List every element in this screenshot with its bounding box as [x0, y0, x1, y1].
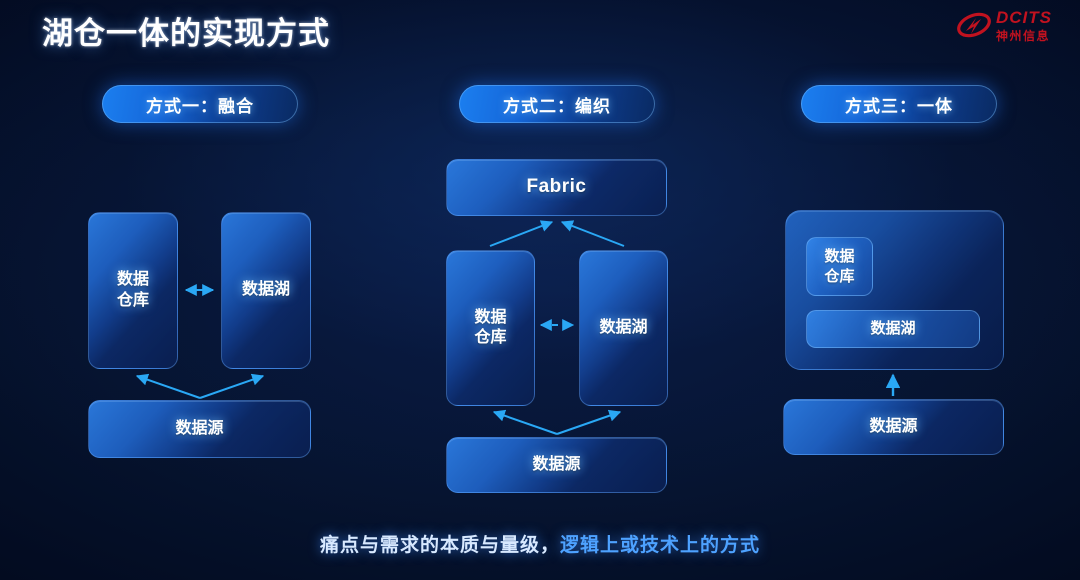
method1-warehouse-node[interactable]: 数据 仓库	[88, 212, 178, 369]
method1-lake-node[interactable]: 数据湖	[221, 212, 311, 369]
page-title: 湖仓一体的实现方式	[42, 8, 330, 53]
dcits-swirl-icon	[956, 9, 992, 43]
footer-caption-part2: 逻辑上或技术上的方式	[560, 535, 760, 556]
method1-lake-label: 数据湖	[242, 280, 290, 300]
c1-source-to-lake-arrow	[200, 376, 263, 398]
method2-source-label: 数据源	[532, 455, 580, 475]
logo-chinese-name: 神州信息	[996, 27, 1050, 44]
method3-warehouse-node[interactable]: 数据 仓库	[806, 237, 873, 296]
method2-warehouse-node[interactable]: 数据 仓库	[446, 250, 535, 406]
method2-source-node[interactable]: 数据源	[446, 437, 667, 493]
method1-warehouse-label: 数据 仓库	[117, 270, 149, 311]
c2-warehouse-to-fabric-arrow	[490, 222, 552, 246]
slide-canvas: 湖仓一体的实现方式 DCITS 神州信息 方式一：融合 方式二：编织 方式三：一…	[0, 0, 1080, 580]
method2-fabric-label: Fabric	[526, 175, 586, 199]
method1-source-label: 数据源	[175, 419, 223, 439]
method2-lake-node[interactable]: 数据湖	[579, 250, 668, 406]
method-pill-2[interactable]: 方式二：编织	[459, 85, 655, 123]
method3-warehouse-label: 数据 仓库	[824, 247, 854, 285]
method3-source-label: 数据源	[869, 417, 917, 437]
footer-caption: 痛点与需求的本质与量级，逻辑上或技术上的方式	[0, 530, 1080, 557]
c2-lake-to-fabric-arrow	[562, 222, 624, 246]
c1-source-to-warehouse-arrow	[137, 376, 200, 398]
method1-source-node[interactable]: 数据源	[88, 400, 311, 458]
method3-lake-label: 数据湖	[870, 319, 915, 338]
method2-lake-label: 数据湖	[599, 318, 647, 338]
c2-source-to-lake-arrow	[557, 412, 620, 434]
method-pill-3-label: 方式三：一体	[845, 92, 953, 117]
method2-fabric-node[interactable]: Fabric	[446, 159, 667, 216]
method-pill-1-label: 方式一：融合	[146, 92, 254, 117]
method-pill-2-label: 方式二：编织	[503, 92, 611, 117]
c2-source-to-warehouse-arrow	[494, 412, 557, 434]
method3-lake-node[interactable]: 数据湖	[806, 310, 980, 348]
logo-wordmark: DCITS	[996, 8, 1052, 28]
method-pill-3[interactable]: 方式三：一体	[801, 85, 997, 123]
method3-source-node[interactable]: 数据源	[783, 399, 1004, 455]
method2-warehouse-label: 数据 仓库	[474, 308, 506, 349]
company-logo: DCITS 神州信息	[956, 6, 1066, 48]
method-pill-1[interactable]: 方式一：融合	[102, 85, 298, 123]
footer-caption-part1: 痛点与需求的本质与量级，	[320, 535, 560, 556]
